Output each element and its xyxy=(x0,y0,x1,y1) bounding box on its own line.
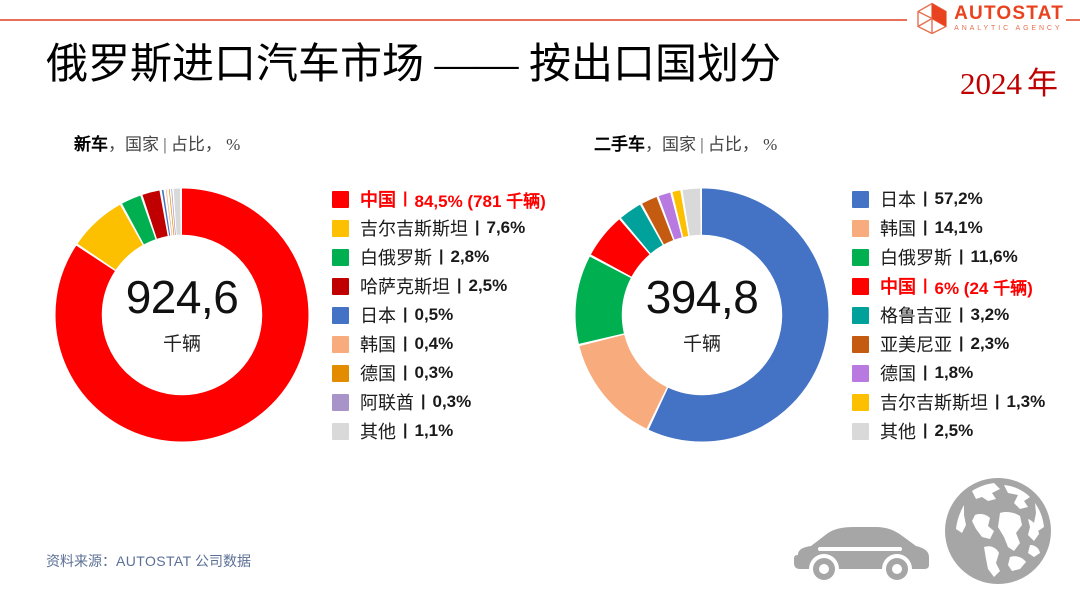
legend-color-swatch xyxy=(852,220,869,237)
legend-item: 韩国|14,1% xyxy=(852,216,1045,240)
legend-label: 德国 xyxy=(880,360,916,386)
legend-value: 2,5% xyxy=(468,276,507,296)
legend-label: 格鲁吉亚 xyxy=(880,302,952,328)
legend-item: 韩国|0,4% xyxy=(332,332,546,356)
legend-separator: | xyxy=(403,335,407,353)
subtitle-rest: ，国家 | 占比， % xyxy=(645,135,777,154)
legend-value: 2,8% xyxy=(450,247,489,267)
legend-color-swatch xyxy=(852,394,869,411)
legend-item: 吉尔吉斯斯坦|1,3% xyxy=(852,390,1045,414)
legend-label: 吉尔吉斯斯坦 xyxy=(360,215,468,241)
legend-color-swatch xyxy=(332,307,349,324)
legend-separator: | xyxy=(959,248,963,266)
legend-separator: | xyxy=(403,364,407,382)
legend-separator: | xyxy=(923,364,927,382)
legend-label: 其他 xyxy=(360,418,396,444)
donut-svg-used-cars xyxy=(566,179,838,451)
year-number: 2024 xyxy=(960,66,1022,101)
legend-label: 日本 xyxy=(360,302,396,328)
legend-label: 日本 xyxy=(880,186,916,212)
legend-color-swatch xyxy=(852,423,869,440)
legend-item: 亚美尼亚|2,3% xyxy=(852,332,1045,356)
donut-chart-used-cars: 394,8 千辆 xyxy=(566,179,838,451)
legend-separator: | xyxy=(457,277,461,295)
legend-value: 57,2% xyxy=(934,189,982,209)
legend-label: 吉尔吉斯斯坦 xyxy=(880,389,988,415)
legend-item: 德国|1,8% xyxy=(852,361,1045,385)
legend-separator: | xyxy=(403,422,407,440)
legend-value: 84,5% (781 千辆) xyxy=(414,187,545,212)
legend-item: 其他|2,5% xyxy=(852,419,1045,443)
legend-label: 中国 xyxy=(360,186,396,212)
legend-separator: | xyxy=(923,219,927,237)
legend-separator: | xyxy=(403,190,407,208)
legend-value: 2,3% xyxy=(970,334,1009,354)
legend-label: 哈萨克斯坦 xyxy=(360,273,450,299)
legend-color-swatch xyxy=(332,394,349,411)
legend-item: 阿联酋|0,3% xyxy=(332,390,546,414)
panel-subtitle-new-cars: 新车，国家 | 占比， % xyxy=(74,130,556,155)
legend-color-swatch xyxy=(332,220,349,237)
legend-color-swatch xyxy=(852,191,869,208)
car-silhouette-icon xyxy=(784,503,934,587)
legend-color-swatch xyxy=(332,278,349,295)
legend-value: 1,8% xyxy=(934,363,973,383)
legend-item: 哈萨克斯坦|2,5% xyxy=(332,274,546,298)
decoration-graphics xyxy=(784,475,1054,587)
logo-tagline: ANALYTIC AGENCY xyxy=(954,25,1064,32)
legend-label: 韩国 xyxy=(360,331,396,357)
donut-svg-new-cars xyxy=(46,179,318,451)
legend-color-swatch xyxy=(332,336,349,353)
legend-color-swatch xyxy=(852,336,869,353)
legend-value: 2,5% xyxy=(934,421,973,441)
legend-color-swatch xyxy=(332,365,349,382)
legend-item: 格鲁吉亚|3,2% xyxy=(852,303,1045,327)
panel-new-cars: 新车，国家 | 占比， % 924,6 千辆 中国|84,5% (781 千辆)… xyxy=(46,130,556,451)
legend-item: 日本|0,5% xyxy=(332,303,546,327)
legend-separator: | xyxy=(959,306,963,324)
year-suffix: 年 xyxy=(1027,66,1058,101)
logo-name: AUTOSTAT xyxy=(954,4,1064,23)
legend-new-cars: 中国|84,5% (781 千辆)吉尔吉斯斯坦|7,6%白俄罗斯|2,8%哈萨克… xyxy=(332,179,546,443)
page-title: 俄罗斯进口汽车市场 —— 按出口国划分 xyxy=(46,30,781,91)
legend-value: 0,5% xyxy=(414,305,453,325)
legend-item: 白俄罗斯|2,8% xyxy=(332,245,546,269)
legend-separator: | xyxy=(923,190,927,208)
legend-value: 7,6% xyxy=(486,218,525,238)
legend-separator: | xyxy=(475,219,479,237)
legend-item: 中国|6% (24 千辆) xyxy=(852,274,1045,298)
legend-separator: | xyxy=(403,306,407,324)
legend-color-swatch xyxy=(332,191,349,208)
legend-value: 3,2% xyxy=(970,305,1009,325)
panel-used-cars: 二手车，国家 | 占比， % 394,8 千辆 日本|57,2%韩国|14,1%… xyxy=(566,130,1076,451)
legend-label: 白俄罗斯 xyxy=(880,244,952,270)
legend-label: 韩国 xyxy=(880,215,916,241)
legend-color-swatch xyxy=(852,307,869,324)
legend-separator: | xyxy=(439,248,443,266)
legend-separator: | xyxy=(959,335,963,353)
legend-item: 德国|0,3% xyxy=(332,361,546,385)
legend-item: 吉尔吉斯斯坦|7,6% xyxy=(332,216,546,240)
legend-item: 白俄罗斯|11,6% xyxy=(852,245,1045,269)
legend-value: 14,1% xyxy=(934,218,982,238)
autostat-logo: AUTOSTAT ANALYTIC AGENCY xyxy=(907,2,1066,34)
legend-separator: | xyxy=(421,393,425,411)
legend-value: 0,3% xyxy=(432,392,471,412)
infographic-page: AUTOSTAT ANALYTIC AGENCY 俄罗斯进口汽车市场 —— 按出… xyxy=(0,0,1080,605)
subtitle-strong: 二手车 xyxy=(594,135,645,154)
globe-icon xyxy=(942,475,1054,587)
legend-color-swatch xyxy=(852,249,869,266)
source-note: 资料来源：AUTOSTAT 公司数据 xyxy=(46,551,251,571)
legend-item: 中国|84,5% (781 千辆) xyxy=(332,187,546,211)
source-suffix: 公司数据 xyxy=(192,555,252,570)
legend-separator: | xyxy=(923,422,927,440)
legend-value: 0,3% xyxy=(414,363,453,383)
legend-label: 阿联酋 xyxy=(360,389,414,415)
legend-used-cars: 日本|57,2%韩国|14,1%白俄罗斯|11,6%中国|6% (24 千辆)格… xyxy=(852,179,1045,443)
donut-chart-new-cars: 924,6 千辆 xyxy=(46,179,318,451)
legend-color-swatch xyxy=(332,249,349,266)
subtitle-strong: 新车 xyxy=(74,135,108,154)
source-brand: AUTOSTAT xyxy=(116,553,192,569)
legend-color-swatch xyxy=(852,365,869,382)
legend-value: 1,1% xyxy=(414,421,453,441)
legend-item: 日本|57,2% xyxy=(852,187,1045,211)
legend-label: 中国 xyxy=(880,273,916,299)
legend-label: 其他 xyxy=(880,418,916,444)
legend-separator: | xyxy=(995,393,999,411)
legend-value: 11,6% xyxy=(970,247,1017,267)
legend-value: 0,4% xyxy=(414,334,453,354)
subtitle-rest: ，国家 | 占比， % xyxy=(108,135,240,154)
legend-label: 白俄罗斯 xyxy=(360,244,432,270)
source-prefix: 资料来源： xyxy=(46,555,116,570)
legend-separator: | xyxy=(923,277,927,295)
year-badge: 2024年 xyxy=(960,58,1058,103)
panel-subtitle-used-cars: 二手车，国家 | 占比， % xyxy=(594,130,1076,155)
legend-color-swatch xyxy=(332,423,349,440)
legend-value: 1,3% xyxy=(1006,392,1045,412)
legend-value: 6% (24 千辆) xyxy=(934,274,1032,299)
legend-label: 德国 xyxy=(360,360,396,386)
autostat-hexagon-icon xyxy=(915,2,949,34)
legend-item: 其他|1,1% xyxy=(332,419,546,443)
legend-color-swatch xyxy=(852,278,869,295)
legend-label: 亚美尼亚 xyxy=(880,331,952,357)
